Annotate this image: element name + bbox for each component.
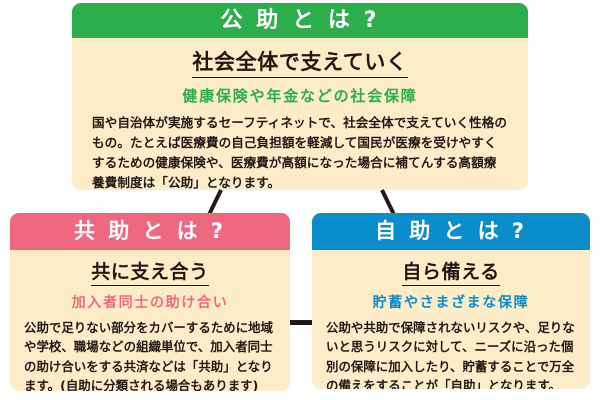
card-jijo-paragraph: 公助や共助で保障されないリスクや、足りないと思うリスクに対して、ニーズに沿った個…: [326, 318, 576, 389]
card-kojo-body: 社会全体で支えていく 健康保険や年金などの社会保障 国や自治体が実施するセーフテ…: [72, 38, 528, 190]
card-kojo: 公 助 と は ? 社会全体で支えていく 健康保険や年金などの社会保障 国や自治…: [72, 3, 528, 190]
card-kyojo-subtitle: 共に支え合う: [91, 257, 208, 286]
card-jijo-accent: 貯蓄やさまざまな保障: [326, 292, 576, 312]
card-kyojo-accent: 加入者同士の助け合い: [24, 292, 276, 312]
card-jijo-header: 自 助 と は ?: [312, 213, 590, 250]
card-kyojo: 共 助 と は ? 共に支え合う 加入者同士の助け合い 公助で足りない部分をカバ…: [10, 213, 290, 391]
card-jijo-subtitle-wrap: 自ら備える: [326, 257, 576, 286]
card-kojo-header: 公 助 と は ?: [72, 3, 528, 38]
card-kojo-subtitle-wrap: 社会全体で支えていく: [92, 46, 508, 78]
card-jijo-subtitle: 自ら備える: [402, 257, 499, 286]
card-jijo: 自 助 と は ? 自ら備える 貯蓄やさまざまな保障 公助や共助で保障されないリ…: [312, 213, 590, 389]
card-kojo-accent: 健康保険や年金などの社会保障: [92, 85, 508, 106]
card-kyojo-body: 共に支え合う 加入者同士の助け合い 公助で足りない部分をカバーするために地域や学…: [10, 250, 290, 391]
card-jijo-body: 自ら備える 貯蓄やさまざまな保障 公助や共助で保障されないリスクや、足りないと思…: [312, 250, 590, 389]
connector-line-middle: [287, 320, 315, 325]
card-kojo-paragraph: 国や自治体が実施するセーフティネットで、社会全体で支えていく性格のもの。たとえば…: [92, 113, 508, 190]
card-kojo-subtitle: 社会全体で支えていく: [192, 46, 407, 78]
card-kyojo-subtitle-wrap: 共に支え合う: [24, 257, 276, 286]
infographic-root: 公 助 と は ? 社会全体で支えていく 健康保険や年金などの社会保障 国や自治…: [0, 0, 600, 400]
card-kyojo-header: 共 助 と は ?: [10, 213, 290, 250]
card-kyojo-paragraph: 公助で足りない部分をカバーするために地域や学校、職場などの組織単位で、加入者同士…: [24, 318, 276, 391]
